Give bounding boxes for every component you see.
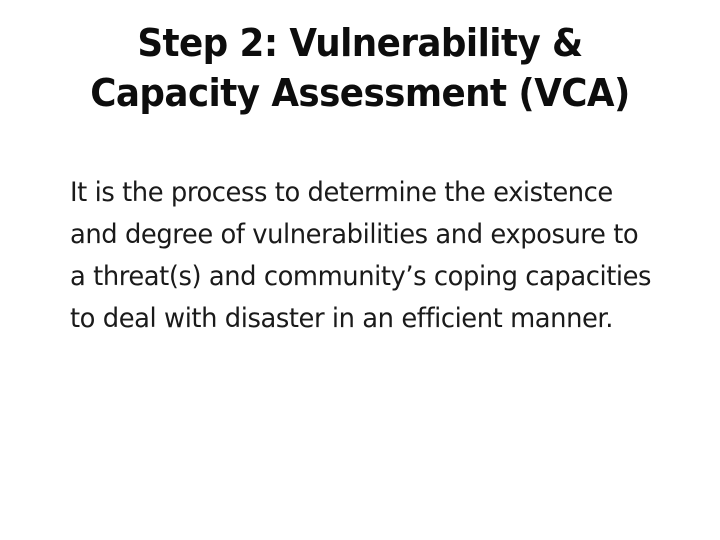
body-text-line: It is the process to determine the exist… xyxy=(70,172,653,214)
slide-title-block: Step 2: Vulnerability & Capacity Assessm… xyxy=(60,18,660,118)
body-text-line: a threat(s) and community’s coping capac… xyxy=(70,256,653,298)
page-title: Step 2: Vulnerability & Capacity Assessm… xyxy=(78,18,642,118)
body-text-line: to deal with disaster in an efficient ma… xyxy=(70,298,653,340)
slide-canvas: Step 2: Vulnerability & Capacity Assessm… xyxy=(0,0,720,540)
body-text-line: and degree of vulnerabilities and exposu… xyxy=(70,214,653,256)
slide-body-block: It is the process to determine the exist… xyxy=(70,172,680,340)
